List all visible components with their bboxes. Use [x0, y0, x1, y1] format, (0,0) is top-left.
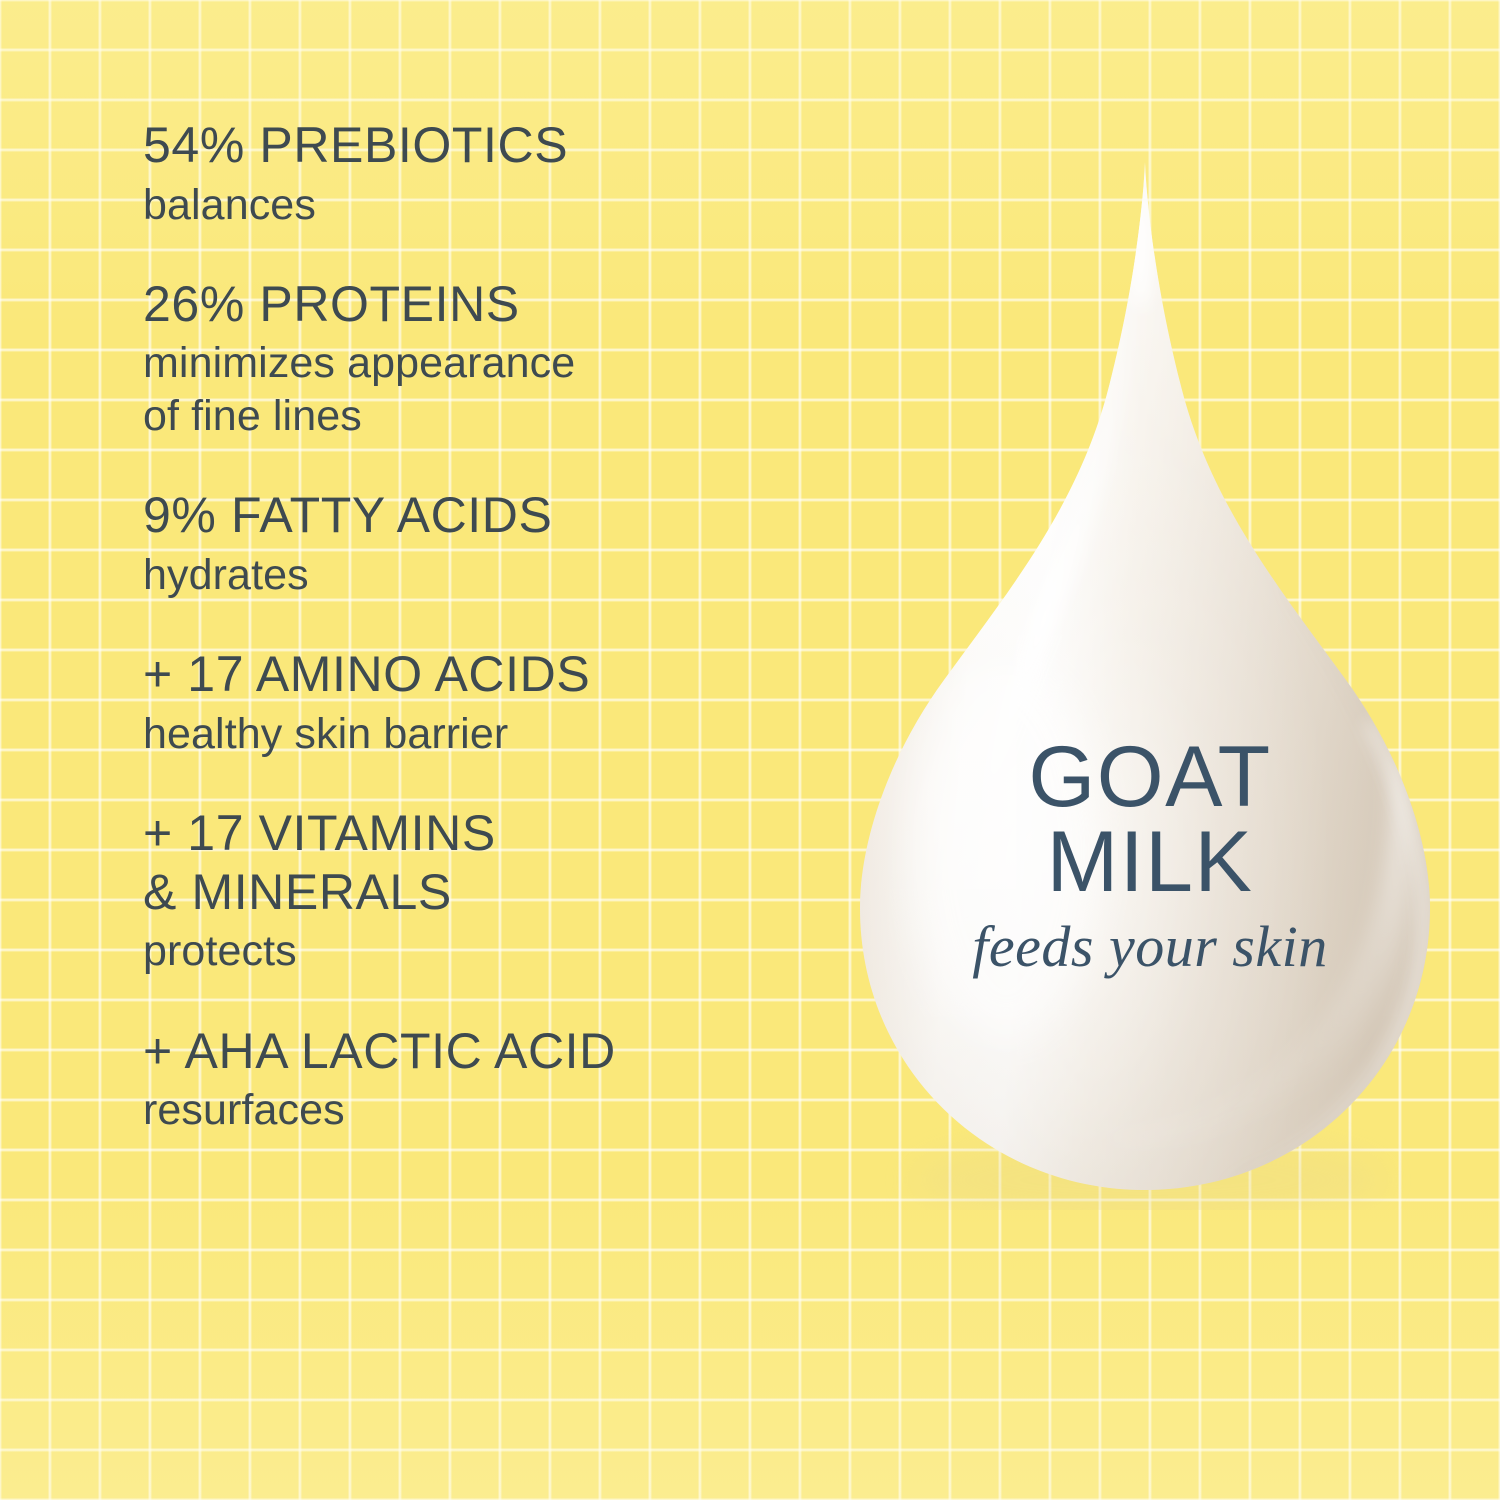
ingredient-benefit: minimizes appearance of fine lines — [143, 337, 903, 442]
ingredient-benefit: balances — [143, 179, 903, 231]
ingredient-item: + 17 AMINO ACIDS healthy skin barrier — [143, 645, 903, 760]
ingredient-item: 26% PROTEINS minimizes appearance of fin… — [143, 275, 903, 442]
ingredient-benefit: protects — [143, 925, 903, 977]
ingredient-benefit: resurfaces — [143, 1084, 903, 1136]
ingredient-item: + AHA LACTIC ACID resurfaces — [143, 1022, 903, 1137]
ingredient-item: 9% FATTY ACIDS hydrates — [143, 486, 903, 601]
droplet-left-glow — [910, 660, 1102, 1040]
ingredient-headline: 26% PROTEINS — [143, 275, 903, 334]
ingredient-item: + 17 VITAMINS & MINERALS protects — [143, 804, 903, 977]
ingredient-headline: + 17 VITAMINS & MINERALS — [143, 804, 903, 921]
ingredient-list: 54% PREBIOTICS balances 26% PROTEINS min… — [143, 116, 903, 1137]
droplet-tip-bloom — [1130, 190, 1152, 310]
ingredient-benefit: healthy skin barrier — [143, 708, 903, 760]
ingredient-headline: 54% PREBIOTICS — [143, 116, 903, 175]
ingredient-item: 54% PREBIOTICS balances — [143, 116, 903, 231]
ingredient-benefit: hydrates — [143, 549, 903, 601]
milk-droplet-illustration — [830, 140, 1460, 1210]
ingredient-headline: + AHA LACTIC ACID — [143, 1022, 903, 1081]
ingredient-headline: + 17 AMINO ACIDS — [143, 645, 903, 704]
ingredient-headline: 9% FATTY ACIDS — [143, 486, 903, 545]
